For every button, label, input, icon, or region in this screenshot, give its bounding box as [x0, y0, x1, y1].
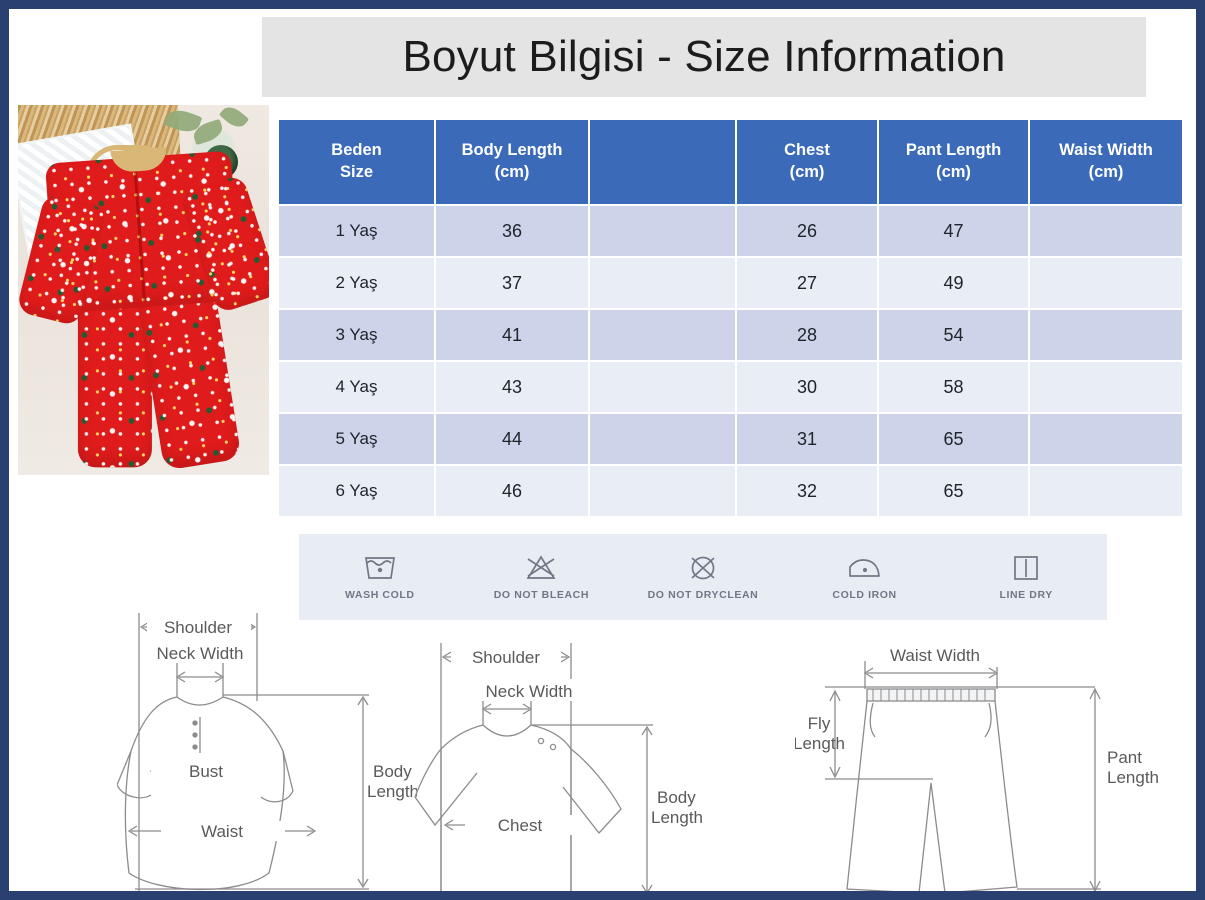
- label-waist-width: Waist Width: [890, 646, 980, 665]
- care-label: COLD IRON: [832, 589, 896, 601]
- pajama-top: [45, 151, 241, 314]
- label-fly-length-line1: Fly: [808, 714, 831, 733]
- cell-blank: [590, 362, 735, 412]
- cell-body-length: 46: [436, 466, 588, 516]
- label-shoulder: Shoulder: [472, 648, 540, 667]
- header-line-2: (cm): [936, 163, 971, 181]
- cell-blank: [590, 258, 735, 308]
- size-chart-page: Boyut Bilgisi - Size Information: [0, 0, 1205, 900]
- cell-pant-length: 54: [879, 310, 1028, 360]
- cell-blank: [590, 466, 735, 516]
- cold-iron-icon: [845, 553, 885, 583]
- cell-size: 2 Yaş: [279, 258, 434, 308]
- cell-chest: 27: [737, 258, 877, 308]
- header-line-1: Pant Length: [906, 141, 1001, 159]
- cell-waist-width: [1030, 466, 1182, 516]
- label-fly-length-line2: Length: [795, 734, 845, 753]
- cell-pant-length: 65: [879, 466, 1028, 516]
- cell-body-length: 43: [436, 362, 588, 412]
- table-row: 5 Yaş 44 31 65: [279, 414, 1182, 464]
- label-chest: Chest: [498, 816, 543, 835]
- table-row: 6 Yaş 46 32 65: [279, 466, 1182, 516]
- care-item-wash-cold: WASH COLD: [305, 553, 455, 601]
- header-cell-size: Beden Size: [279, 120, 434, 204]
- label-waist: Waist: [201, 822, 243, 841]
- label-body-length-line2: Length: [651, 808, 703, 827]
- care-label: LINE DRY: [999, 589, 1052, 601]
- cell-chest: 26: [737, 206, 877, 256]
- care-instructions-strip: WASH COLD DO NOT BLEACH DO NOT DRYCL: [299, 534, 1107, 620]
- cell-blank: [590, 310, 735, 360]
- cell-pant-length: 65: [879, 414, 1028, 464]
- cell-chest: 30: [737, 362, 877, 412]
- cell-blank: [590, 206, 735, 256]
- header-line-1: Beden: [331, 141, 381, 159]
- label-body-length-line1: Body: [657, 788, 696, 807]
- label-body-length-line1: Body: [373, 762, 412, 781]
- care-item-do-not-bleach: DO NOT BLEACH: [466, 553, 616, 601]
- table-row: 1 Yaş 36 26 47: [279, 206, 1182, 256]
- care-label: DO NOT DRYCLEAN: [648, 589, 759, 601]
- cell-pant-length: 47: [879, 206, 1028, 256]
- cell-body-length: 41: [436, 310, 588, 360]
- do-not-dryclean-icon: [686, 553, 720, 583]
- label-body-length-line2: Length: [367, 782, 417, 801]
- header-cell-waist-width: Waist Width (cm): [1030, 120, 1182, 204]
- cell-waist-width: [1030, 362, 1182, 412]
- label-shoulder: Shoulder: [164, 618, 232, 637]
- line-dry-icon: [1010, 553, 1042, 583]
- cell-size: 3 Yaş: [279, 310, 434, 360]
- label-bust: Bust: [189, 762, 223, 781]
- table-header: Beden Size Body Length (cm) Chest (cm) P…: [279, 120, 1182, 204]
- cell-body-length: 37: [436, 258, 588, 308]
- header-cell-body-length: Body Length (cm): [436, 120, 588, 204]
- pants-measurement-diagram: Waist Width Fly Length Pant Length: [795, 633, 1165, 900]
- cell-size: 5 Yaş: [279, 414, 434, 464]
- cell-blank: [590, 414, 735, 464]
- table-row: 4 Yaş 43 30 58: [279, 362, 1182, 412]
- header-cell-blank: [590, 120, 735, 204]
- cell-size: 6 Yaş: [279, 466, 434, 516]
- table-body: 1 Yaş 36 26 47 2 Yaş 37 27 49 3 Yaş 41 2…: [279, 206, 1182, 516]
- dress-measurement-diagram: Shoulder Neck Width Bust Waist Body Leng…: [117, 605, 417, 900]
- wash-cold-icon: [362, 553, 398, 583]
- hanger-neck: [110, 147, 167, 173]
- cell-body-length: 44: [436, 414, 588, 464]
- table-row: 3 Yaş 41 28 54: [279, 310, 1182, 360]
- header-cell-chest: Chest (cm): [737, 120, 877, 204]
- cell-pant-length: 58: [879, 362, 1028, 412]
- page-title: Boyut Bilgisi - Size Information: [402, 32, 1005, 82]
- header-row: Beden Size Body Length (cm) Chest (cm) P…: [279, 120, 1182, 204]
- cell-waist-width: [1030, 206, 1182, 256]
- header-line-2: (cm): [495, 163, 530, 181]
- cell-waist-width: [1030, 258, 1182, 308]
- care-item-cold-iron: COLD IRON: [790, 553, 940, 601]
- cell-size: 1 Yaş: [279, 206, 434, 256]
- product-photo: [18, 105, 269, 475]
- cell-chest: 28: [737, 310, 877, 360]
- label-neck-width: Neck Width: [486, 682, 573, 701]
- header-cell-pant-length: Pant Length (cm): [879, 120, 1028, 204]
- label-neck-width: Neck Width: [157, 644, 244, 663]
- table-row: 2 Yaş 37 27 49: [279, 258, 1182, 308]
- size-table: Beden Size Body Length (cm) Chest (cm) P…: [277, 118, 1184, 518]
- care-label: WASH COLD: [345, 589, 415, 601]
- care-item-line-dry: LINE DRY: [951, 553, 1101, 601]
- do-not-bleach-icon: [522, 553, 560, 583]
- label-pant-length-line2: Length: [1107, 768, 1159, 787]
- title-bar: Boyut Bilgisi - Size Information: [262, 17, 1146, 97]
- cell-chest: 32: [737, 466, 877, 516]
- cell-chest: 31: [737, 414, 877, 464]
- pajama-button-placket: [133, 163, 146, 301]
- cell-waist-width: [1030, 414, 1182, 464]
- label-pant-length-line1: Pant: [1107, 748, 1142, 767]
- header-line-1: Waist Width: [1059, 141, 1153, 159]
- header-line-1: Chest: [784, 141, 830, 159]
- cell-waist-width: [1030, 310, 1182, 360]
- cell-pant-length: 49: [879, 258, 1028, 308]
- cell-body-length: 36: [436, 206, 588, 256]
- care-item-do-not-dryclean: DO NOT DRYCLEAN: [628, 553, 778, 601]
- header-line-1: Body Length: [462, 141, 563, 159]
- top-measurement-diagram: Shoulder Neck Width Chest Body Length: [413, 637, 723, 900]
- header-line-2: (cm): [1089, 163, 1124, 181]
- care-label: DO NOT BLEACH: [494, 589, 589, 601]
- header-line-2: (cm): [790, 163, 825, 181]
- cell-size: 4 Yaş: [279, 362, 434, 412]
- header-line-2: Size: [340, 163, 373, 181]
